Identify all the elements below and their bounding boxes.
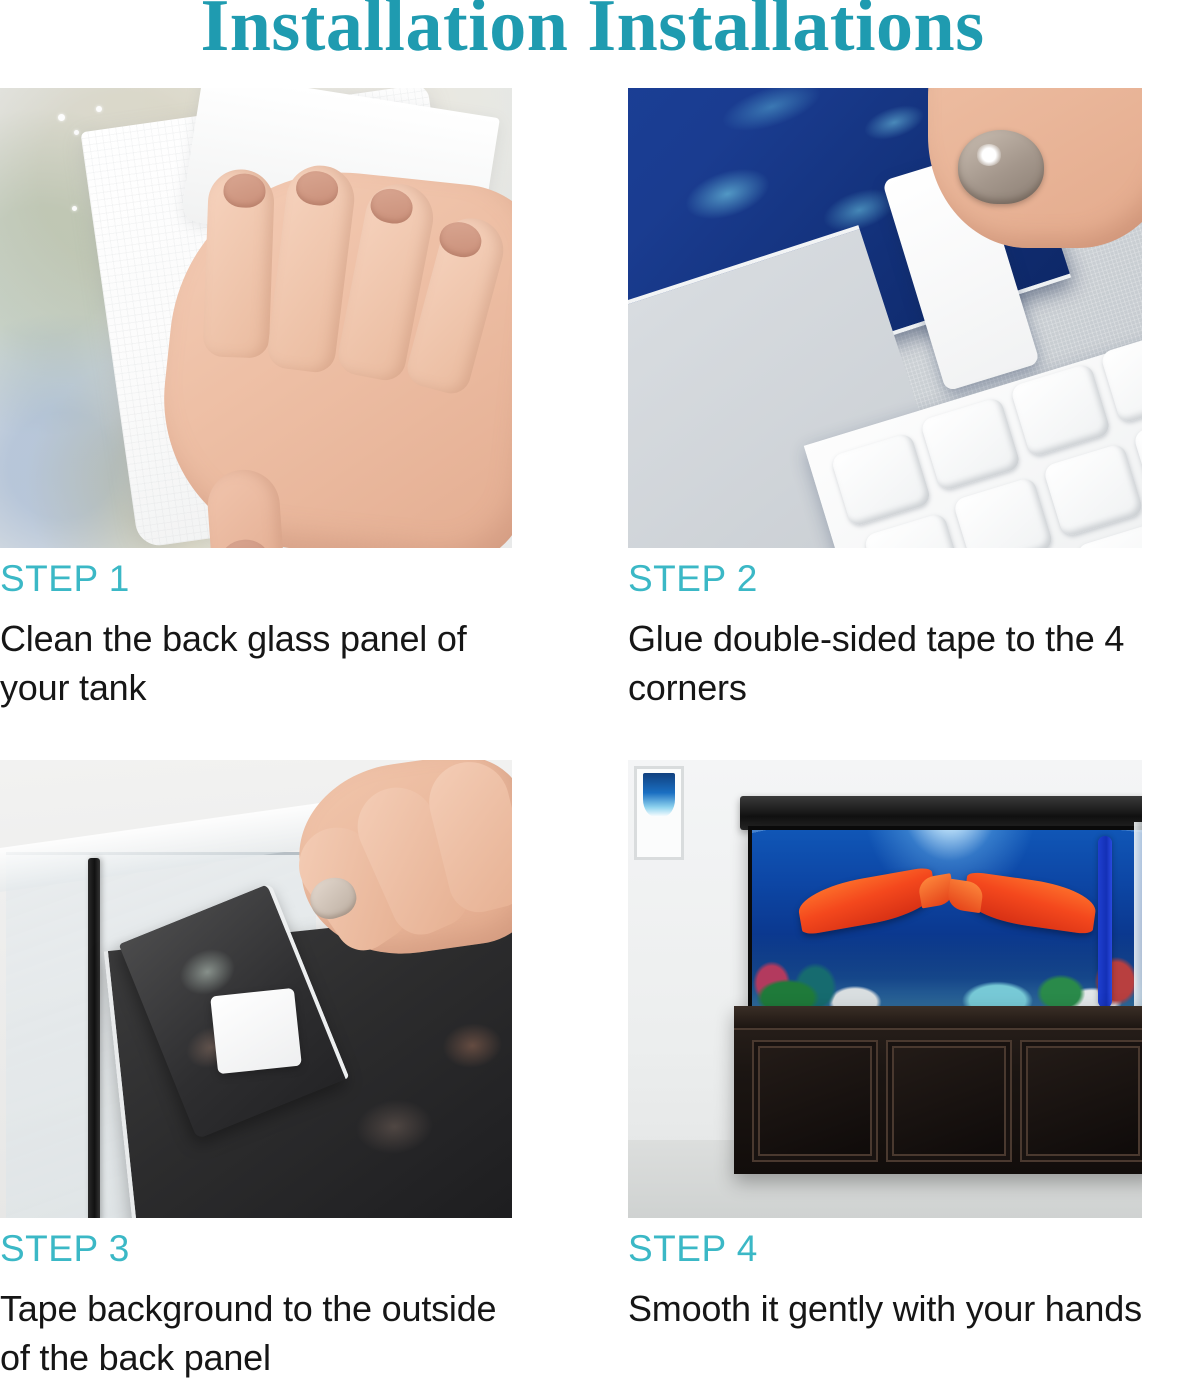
adhesive-square: [210, 988, 302, 1074]
step-4-label: STEP 4: [628, 1230, 1142, 1267]
step-3-description: Tape background to the outside of the ba…: [0, 1285, 512, 1383]
step-1-caption: STEP 1 Clean the back glass panel of you…: [0, 548, 512, 713]
step-card-2: STEP 2 Glue double-sided tape to the 4 c…: [628, 88, 1142, 713]
cabinet-door-2: [886, 1040, 1012, 1162]
step-card-4: STEP 4 Smooth it gently with your hands: [628, 760, 1142, 1334]
wall-art-frame: [634, 766, 684, 860]
step-2-caption: STEP 2 Glue double-sided tape to the 4 c…: [628, 548, 1142, 713]
step-2-label: STEP 2: [628, 560, 1142, 597]
aquarium-cabinet-stand: [734, 1006, 1142, 1174]
tank-corner-trim: [88, 858, 100, 1218]
page-header: Installation Installations: [0, 0, 1185, 80]
step-4-photo: [628, 760, 1142, 1218]
page-title: Installation Installations: [200, 0, 984, 69]
step-4-caption: STEP 4 Smooth it gently with your hands: [628, 1218, 1142, 1334]
step-3-caption: STEP 3 Tape background to the outside of…: [0, 1218, 512, 1383]
step-1-description: Clean the back glass panel of your tank: [0, 615, 512, 713]
cabinet-door-1: [752, 1040, 878, 1162]
step-2-description: Glue double-sided tape to the 4 corners: [628, 615, 1142, 713]
aquarium-background-image: [752, 830, 1142, 1008]
step-1-label: STEP 1: [0, 560, 512, 597]
tank-side-glass: [1134, 822, 1142, 1008]
cabinet-top-trim: [734, 1006, 1142, 1030]
cabinet-door-3: [1020, 1040, 1142, 1162]
step-4-description: Smooth it gently with your hands: [628, 1285, 1142, 1334]
blue-riser-tube: [1098, 836, 1112, 1008]
tank-hood-light: [740, 796, 1142, 830]
step-3-label: STEP 3: [0, 1230, 512, 1267]
step-2-photo: [628, 88, 1142, 548]
step-card-1: STEP 1 Clean the back glass panel of you…: [0, 88, 512, 713]
aquarium-tank: [748, 826, 1142, 1012]
step-1-photo: [0, 88, 512, 548]
step-3-photo: [0, 760, 512, 1218]
step-card-3: STEP 3 Tape background to the outside of…: [0, 760, 512, 1383]
coral-and-plants: [752, 934, 1142, 1008]
thumb-nail: [958, 130, 1044, 204]
